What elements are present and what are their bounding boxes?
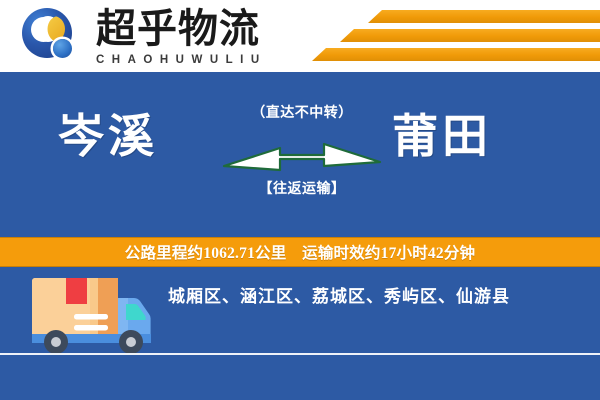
brand-name-en: CHAOHUWULIU — [96, 53, 267, 67]
brand-block: 超乎物流 CHAOHUWULIU — [96, 7, 267, 67]
route-arrow-block: （直达不中转） 【往返运输】 — [222, 102, 382, 207]
stripe-1 — [368, 10, 600, 23]
destination-city-name: 莆田 — [392, 108, 492, 166]
company-logo-icon — [22, 8, 78, 64]
brand-name-cn: 超乎物流 — [96, 7, 267, 51]
covered-districts-text: 城厢区、涵江区、荔城区、秀屿区、仙游县 — [168, 282, 510, 307]
delivery-truck-icon — [30, 274, 170, 356]
distance-duration-bar: 公路里程约1062.71公里 运输时效约17小时42分钟 — [0, 237, 600, 267]
distance-duration-text: 公路里程约1062.71公里 运输时效约17小时42分钟 — [125, 241, 475, 263]
stripe-2 — [340, 29, 600, 42]
logo-small-dot-icon — [53, 39, 72, 58]
double-headed-arrow-icon — [222, 138, 382, 172]
direct-service-label: （直达不中转） — [222, 102, 382, 122]
logistics-route-banner: 超乎物流 CHAOHUWULIU 岑溪 （直达不中转） 【往返运输】 莆田 公路… — [0, 0, 600, 400]
banner-header: 超乎物流 CHAOHUWULIU — [0, 0, 600, 72]
route-section: 岑溪 （直达不中转） 【往返运输】 莆田 — [0, 72, 600, 237]
roundtrip-label: 【往返运输】 — [222, 178, 382, 198]
coverage-section: 城厢区、涵江区、荔城区、秀屿区、仙游县 — [0, 268, 600, 400]
road-line-icon — [0, 353, 600, 355]
stripe-3 — [312, 48, 600, 61]
speed-stripes-icon — [290, 8, 600, 66]
origin-city-name: 岑溪 — [58, 108, 158, 166]
